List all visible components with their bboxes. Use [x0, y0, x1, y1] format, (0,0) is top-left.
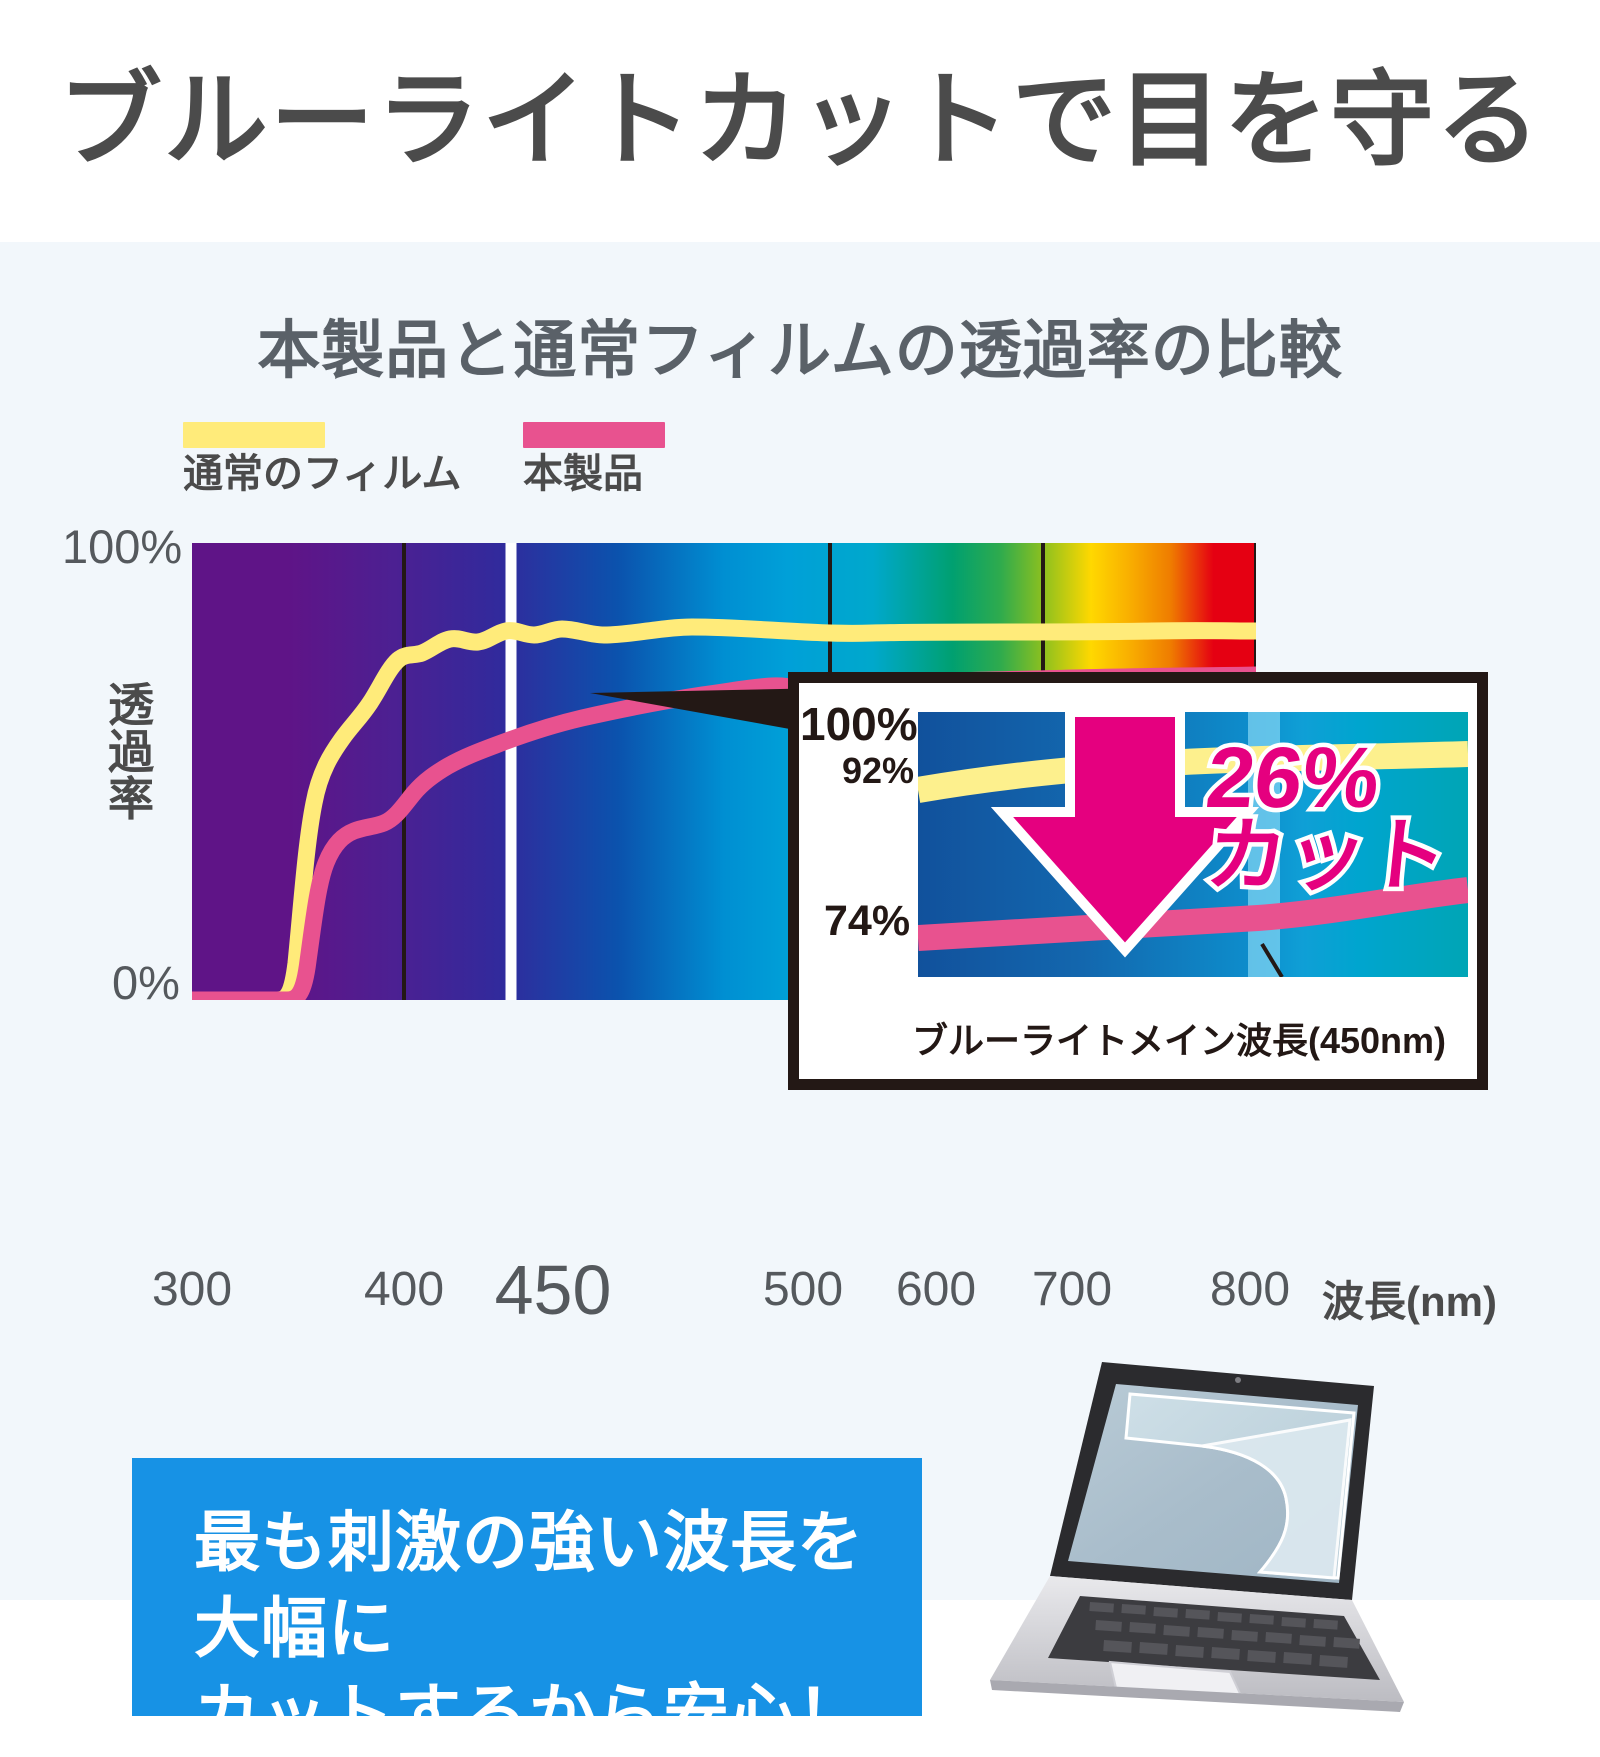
legend-swatch-this-product [523, 422, 665, 448]
banner-text: 最も刺激の強い波長を大幅に カットするから安心！ [194, 1500, 922, 1757]
inset-label-100: 100% [800, 697, 918, 751]
inset-label-74: 74% [824, 897, 910, 946]
legend-swatch-normal-film [183, 422, 325, 448]
page-header: ブルーライトカットで目を守る [0, 0, 1600, 242]
inset-caption: ブルーライトメイン波長(450nm) [912, 1012, 1446, 1064]
chart-subtitle: 本製品と通常フィルムの透過率の比較 [0, 300, 1600, 391]
x-axis-unit-label: 波長(nm) [1322, 1268, 1497, 1329]
webcam-icon [1235, 1377, 1241, 1383]
laptop-product-image [930, 1350, 1490, 1750]
x-tick-450: 450 [495, 1250, 612, 1330]
legend-item-this-product: 本製品 [523, 422, 665, 496]
y-axis-max-label: 100% [62, 519, 182, 574]
x-axis: 300 400 450 500 600 700 800 波長(nm) [0, 1262, 1600, 1332]
laptop-svg [930, 1350, 1490, 1750]
chart-legend: 通常のフィルム 本製品 [183, 422, 743, 532]
y-axis-min-label: 0% [112, 955, 180, 1010]
page-title: ブルーライトカットで目を守る [58, 69, 1542, 173]
x-tick-600: 600 [896, 1262, 976, 1317]
chart-panel: 本製品と通常フィルムの透過率の比較 通常のフィルム 本製品 100% 0% 透過… [0, 242, 1600, 1600]
inset-label-92: 92% [842, 750, 914, 792]
bottom-banner: 最も刺激の強い波長を大幅に カットするから安心！ [132, 1458, 922, 1716]
cut-percentage-callout: 26% カット [1195, 739, 1459, 893]
x-tick-400: 400 [364, 1262, 444, 1317]
x-tick-300: 300 [152, 1262, 232, 1317]
x-tick-800: 800 [1210, 1262, 1290, 1317]
legend-item-normal-film: 通常のフィルム [183, 422, 461, 496]
x-tick-500: 500 [763, 1262, 843, 1317]
banner-line-2: カットするから安心！ [194, 1672, 922, 1757]
banner-line-1: 最も刺激の強い波長を大幅に [194, 1500, 922, 1672]
y-axis-title: 透過率 [106, 682, 156, 823]
legend-label-this-product: 本製品 [523, 452, 665, 496]
x-tick-700: 700 [1032, 1262, 1112, 1317]
legend-label-normal-film: 通常のフィルム [183, 452, 461, 496]
cut-percentage-value: 26% [1203, 739, 1459, 819]
cut-percentage-unit: カット [1203, 819, 1451, 893]
